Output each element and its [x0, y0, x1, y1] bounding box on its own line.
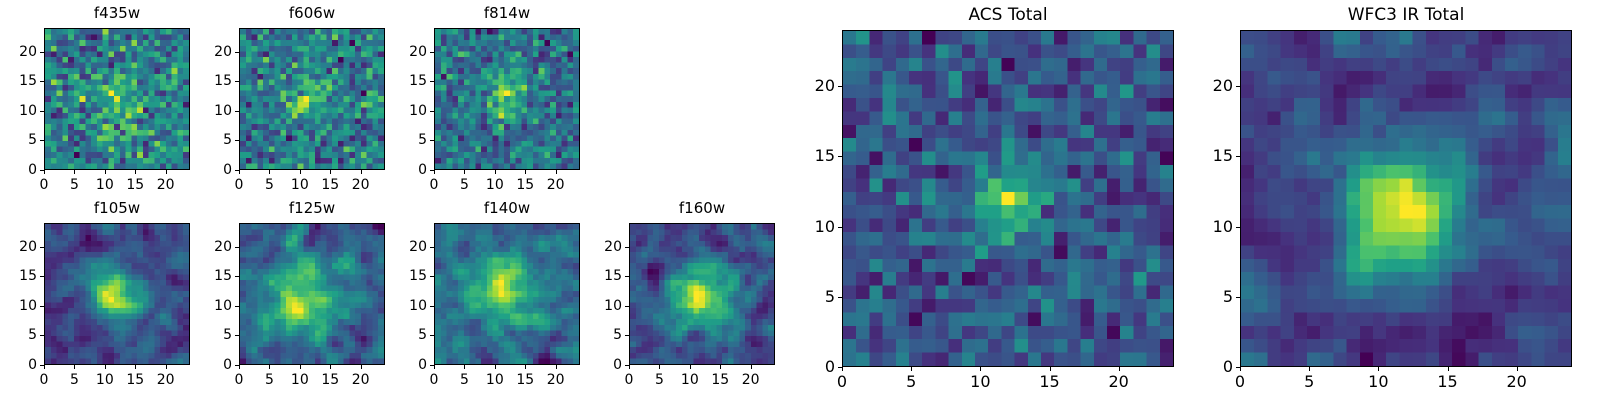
ytick-label: 20	[199, 238, 232, 256]
panel-title-f814w: f814w	[434, 2, 580, 24]
heatmap-canvas-f140w	[435, 224, 579, 364]
xtick-mark	[361, 170, 362, 174]
ytick-mark	[1236, 367, 1240, 368]
ytick-label: 15	[394, 267, 427, 285]
panel-title-f125w: f125w	[239, 197, 385, 219]
xtick-mark	[629, 365, 630, 369]
ytick-label: 0	[394, 356, 427, 374]
xtick-label: 10	[960, 373, 1000, 391]
heatmap-acs-total	[842, 30, 1174, 367]
xtick-mark	[434, 365, 435, 369]
ytick-label: 10	[4, 102, 37, 120]
ytick-label: 5	[4, 326, 37, 344]
ytick-label: 5	[1194, 288, 1233, 306]
ytick-mark	[235, 52, 239, 53]
ytick-mark	[838, 367, 842, 368]
xtick-mark	[556, 365, 557, 369]
panel-f435w: f435w0510152005101520	[4, 2, 202, 198]
xtick-mark	[105, 170, 106, 174]
heatmap-f125w	[239, 223, 385, 365]
panel-title-wfc3-ir-total: WFC3 IR Total	[1240, 4, 1572, 26]
ytick-label: 15	[796, 147, 835, 165]
panel-f125w: f125w0510152005101520	[199, 197, 397, 393]
xtick-label: 5	[891, 373, 931, 391]
xtick-mark	[44, 170, 45, 174]
ytick-label: 10	[1194, 218, 1233, 236]
ytick-mark	[40, 276, 44, 277]
ytick-label: 0	[199, 356, 232, 374]
panel-f105w: f105w0510152005101520	[4, 197, 202, 393]
ytick-label: 10	[199, 297, 232, 315]
ytick-mark	[1236, 156, 1240, 157]
ytick-label: 10	[394, 102, 427, 120]
heatmap-canvas-f435w	[45, 29, 189, 169]
xtick-mark	[659, 365, 660, 369]
heatmap-canvas-f814w	[435, 29, 579, 169]
ytick-label: 15	[199, 267, 232, 285]
ytick-label: 15	[1194, 147, 1233, 165]
ytick-label: 0	[1194, 358, 1233, 376]
ytick-label: 0	[199, 161, 232, 179]
heatmap-canvas-f105w	[45, 224, 189, 364]
xtick-label: 15	[1030, 373, 1070, 391]
xtick-mark	[1309, 367, 1310, 371]
ytick-mark	[40, 247, 44, 248]
ytick-label: 15	[589, 267, 622, 285]
ytick-mark	[235, 247, 239, 248]
ytick-mark	[430, 170, 434, 171]
xtick-mark	[980, 367, 981, 371]
ytick-label: 10	[796, 218, 835, 236]
ytick-label: 5	[796, 288, 835, 306]
heatmap-canvas-acs-total	[843, 31, 1173, 366]
panel-f140w: f140w0510152005101520	[394, 197, 592, 393]
ytick-label: 10	[394, 297, 427, 315]
ytick-mark	[430, 365, 434, 366]
xtick-label: 10	[1358, 373, 1398, 391]
ytick-label: 15	[199, 72, 232, 90]
heatmap-canvas-f606w	[240, 29, 384, 169]
heatmap-canvas-f160w	[630, 224, 774, 364]
xtick-mark	[434, 170, 435, 174]
ytick-label: 5	[4, 131, 37, 149]
xtick-mark	[495, 365, 496, 369]
xtick-label: 20	[341, 371, 381, 389]
ytick-label: 10	[199, 102, 232, 120]
xtick-mark	[464, 170, 465, 174]
ytick-label: 0	[796, 358, 835, 376]
heatmap-f140w	[434, 223, 580, 365]
ytick-mark	[235, 306, 239, 307]
xtick-mark	[166, 170, 167, 174]
panel-title-f160w: f160w	[629, 197, 775, 219]
panel-title-f140w: f140w	[434, 197, 580, 219]
ytick-mark	[430, 140, 434, 141]
ytick-label: 20	[394, 43, 427, 61]
xtick-mark	[751, 365, 752, 369]
ytick-mark	[838, 297, 842, 298]
xtick-label: 20	[146, 176, 186, 194]
xtick-mark	[1517, 367, 1518, 371]
ytick-mark	[40, 306, 44, 307]
heatmap-f160w	[629, 223, 775, 365]
xtick-mark	[135, 170, 136, 174]
ytick-mark	[40, 111, 44, 112]
panel-f814w: f814w0510152005101520	[394, 2, 592, 198]
ytick-mark	[235, 276, 239, 277]
xtick-label: 15	[1428, 373, 1468, 391]
xtick-mark	[720, 365, 721, 369]
ytick-mark	[430, 111, 434, 112]
xtick-mark	[1448, 367, 1449, 371]
xtick-label: 5	[1289, 373, 1329, 391]
xtick-mark	[239, 365, 240, 369]
xtick-mark	[44, 365, 45, 369]
ytick-label: 15	[4, 72, 37, 90]
xtick-mark	[1119, 367, 1120, 371]
ytick-mark	[430, 306, 434, 307]
xtick-mark	[330, 170, 331, 174]
xtick-mark	[74, 365, 75, 369]
xtick-mark	[269, 365, 270, 369]
xtick-label: 20	[536, 371, 576, 389]
panel-f606w: f606w0510152005101520	[199, 2, 397, 198]
xtick-mark	[300, 170, 301, 174]
ytick-mark	[625, 365, 629, 366]
panel-title-f606w: f606w	[239, 2, 385, 24]
heatmap-f606w	[239, 28, 385, 170]
ytick-mark	[235, 111, 239, 112]
xtick-mark	[525, 170, 526, 174]
heatmap-f814w	[434, 28, 580, 170]
ytick-label: 20	[4, 43, 37, 61]
heatmap-canvas-wfc3-ir-total	[1241, 31, 1571, 366]
xtick-mark	[269, 170, 270, 174]
xtick-mark	[525, 365, 526, 369]
xtick-mark	[361, 365, 362, 369]
ytick-mark	[838, 156, 842, 157]
ytick-mark	[838, 227, 842, 228]
ytick-mark	[625, 276, 629, 277]
ytick-mark	[40, 81, 44, 82]
xtick-mark	[842, 367, 843, 371]
ytick-mark	[838, 86, 842, 87]
ytick-label: 15	[4, 267, 37, 285]
ytick-mark	[430, 247, 434, 248]
xtick-label: 20	[1099, 373, 1139, 391]
ytick-mark	[1236, 297, 1240, 298]
ytick-label: 20	[199, 43, 232, 61]
xtick-label: 20	[731, 371, 771, 389]
ytick-mark	[235, 365, 239, 366]
ytick-mark	[1236, 86, 1240, 87]
ytick-label: 20	[589, 238, 622, 256]
heatmap-f105w	[44, 223, 190, 365]
ytick-label: 5	[199, 326, 232, 344]
xtick-mark	[464, 365, 465, 369]
ytick-mark	[430, 335, 434, 336]
xtick-label: 20	[146, 371, 186, 389]
ytick-label: 5	[394, 326, 427, 344]
ytick-mark	[430, 81, 434, 82]
xtick-mark	[239, 170, 240, 174]
xtick-mark	[166, 365, 167, 369]
ytick-mark	[235, 170, 239, 171]
panel-f160w: f160w0510152005101520	[589, 197, 787, 393]
ytick-mark	[40, 365, 44, 366]
panel-title-f105w: f105w	[44, 197, 190, 219]
ytick-mark	[235, 140, 239, 141]
ytick-label: 10	[589, 297, 622, 315]
heatmap-f435w	[44, 28, 190, 170]
panel-wfc3-ir-total: WFC3 IR Total0510152005101520	[1194, 4, 1586, 395]
xtick-mark	[1378, 367, 1379, 371]
ytick-label: 20	[394, 238, 427, 256]
ytick-mark	[40, 140, 44, 141]
ytick-mark	[235, 335, 239, 336]
ytick-mark	[625, 306, 629, 307]
ytick-label: 0	[4, 161, 37, 179]
ytick-label: 0	[4, 356, 37, 374]
ytick-label: 5	[589, 326, 622, 344]
xtick-label: 20	[536, 176, 576, 194]
xtick-mark	[495, 170, 496, 174]
xtick-mark	[911, 367, 912, 371]
heatmap-canvas-f125w	[240, 224, 384, 364]
ytick-label: 20	[4, 238, 37, 256]
ytick-mark	[1236, 227, 1240, 228]
ytick-label: 0	[394, 161, 427, 179]
xtick-mark	[556, 170, 557, 174]
panel-acs-total: ACS Total0510152005101520	[796, 4, 1188, 395]
ytick-label: 15	[394, 72, 427, 90]
ytick-label: 20	[1194, 77, 1233, 95]
xtick-label: 20	[1497, 373, 1537, 391]
ytick-mark	[235, 81, 239, 82]
ytick-label: 0	[589, 356, 622, 374]
ytick-mark	[625, 247, 629, 248]
xtick-mark	[74, 170, 75, 174]
xtick-mark	[330, 365, 331, 369]
ytick-label: 5	[199, 131, 232, 149]
ytick-label: 10	[4, 297, 37, 315]
xtick-mark	[1050, 367, 1051, 371]
xtick-label: 20	[341, 176, 381, 194]
heatmap-wfc3-ir-total	[1240, 30, 1572, 367]
panel-title-acs-total: ACS Total	[842, 4, 1174, 26]
ytick-mark	[40, 170, 44, 171]
xtick-mark	[300, 365, 301, 369]
ytick-mark	[430, 52, 434, 53]
panel-title-f435w: f435w	[44, 2, 190, 24]
xtick-mark	[1240, 367, 1241, 371]
xtick-mark	[135, 365, 136, 369]
ytick-label: 20	[796, 77, 835, 95]
ytick-mark	[40, 335, 44, 336]
ytick-label: 5	[394, 131, 427, 149]
xtick-mark	[105, 365, 106, 369]
ytick-mark	[625, 335, 629, 336]
ytick-mark	[40, 52, 44, 53]
xtick-mark	[690, 365, 691, 369]
ytick-mark	[430, 276, 434, 277]
